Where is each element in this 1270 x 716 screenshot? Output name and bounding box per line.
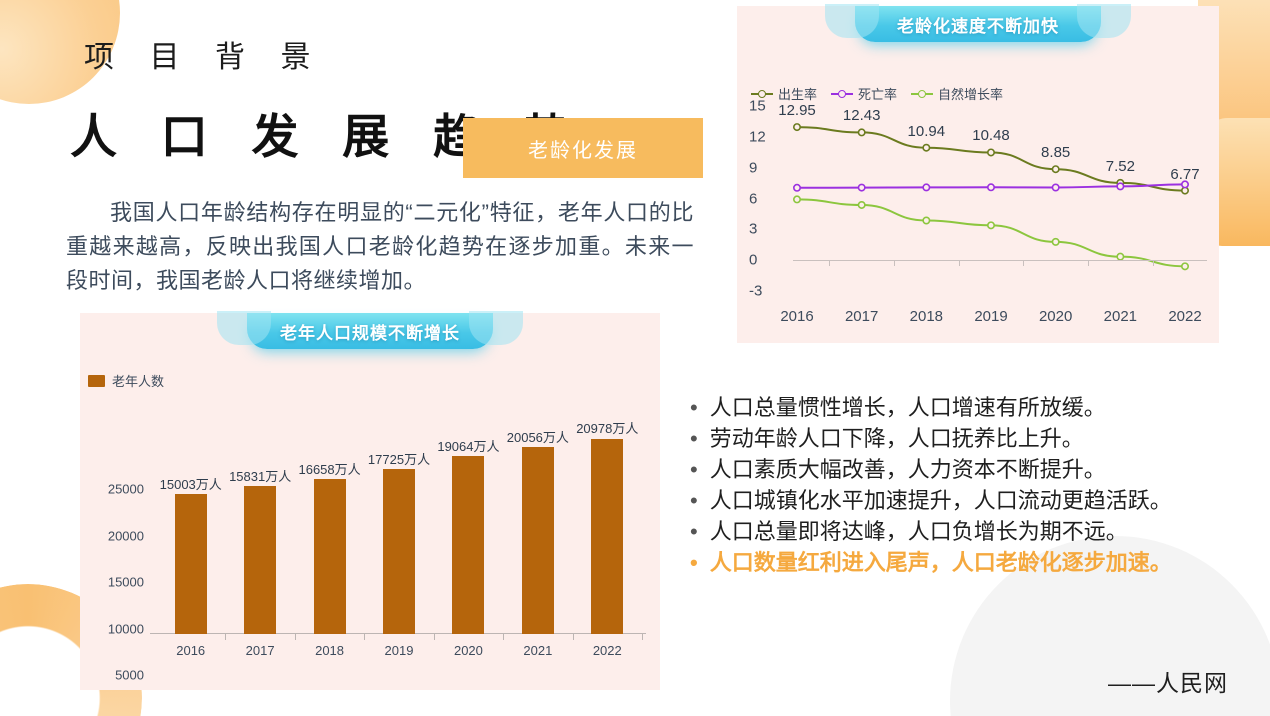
bar-x-tick-mark bbox=[573, 634, 574, 640]
line-chart-zero-axis bbox=[793, 260, 1207, 261]
line-data-point[interactable] bbox=[794, 124, 800, 130]
line-y-tick-label: 15 bbox=[749, 98, 766, 115]
bar-y-tick-label: 25000 bbox=[108, 482, 144, 497]
bullet-dot-icon: • bbox=[690, 392, 698, 423]
bar-x-tick-label: 2022 bbox=[593, 643, 622, 658]
bar-x-tick-label: 2017 bbox=[246, 643, 275, 658]
bar-x-tick-label: 2018 bbox=[315, 643, 344, 658]
bar-x-tick-mark bbox=[364, 634, 365, 640]
chart-panel-elderly-population: 老年人口规模不断增长 老年人数 050001000015000200002500… bbox=[80, 313, 660, 690]
line-data-point[interactable] bbox=[923, 145, 929, 151]
bar-rect bbox=[244, 486, 276, 634]
bar-chart-title: 老年人口规模不断增长 bbox=[280, 319, 460, 344]
line-chart-svg bbox=[789, 106, 1193, 291]
line-x-tick-mark bbox=[829, 260, 830, 266]
line-x-tick-mark bbox=[1023, 260, 1024, 266]
line-y-tick-label: 12 bbox=[749, 128, 766, 145]
bar-value-label: 20056万人 bbox=[507, 427, 569, 446]
line-y-tick-label: 3 bbox=[749, 221, 757, 238]
bullet-dot-icon: • bbox=[690, 516, 698, 547]
line-data-point[interactable] bbox=[988, 184, 994, 190]
line-data-point[interactable] bbox=[1117, 183, 1123, 189]
bar-x-tick-mark bbox=[225, 634, 226, 640]
legend-line-marker-icon bbox=[831, 89, 853, 99]
line-chart-banner: 老龄化速度不断加快 bbox=[855, 6, 1101, 42]
line-x-tick-label: 2016 bbox=[780, 308, 813, 325]
bar-y-tick-label: 5000 bbox=[115, 668, 144, 683]
legend-line-marker-icon bbox=[911, 89, 933, 99]
line-data-point[interactable] bbox=[794, 196, 800, 202]
line-data-point[interactable] bbox=[794, 185, 800, 191]
list-item: •人口总量惯性增长，人口增速有所放缓。 bbox=[690, 392, 1250, 423]
legend-swatch-icon bbox=[88, 375, 105, 387]
key-points-list: •人口总量惯性增长，人口增速有所放缓。•劳动年龄人口下降，人口抚养比上升。•人口… bbox=[690, 392, 1250, 578]
bar-column[interactable] bbox=[452, 456, 484, 634]
line-chart-title: 老龄化速度不断加快 bbox=[897, 12, 1059, 37]
legend-label: 自然增长率 bbox=[938, 84, 1003, 103]
line-y-tick-label: 9 bbox=[749, 159, 757, 176]
line-x-tick-label: 2017 bbox=[845, 308, 878, 325]
bar-rect bbox=[175, 494, 207, 634]
line-x-tick-label: 2022 bbox=[1168, 308, 1201, 325]
line-data-point[interactable] bbox=[858, 129, 864, 135]
line-x-tick-mark bbox=[959, 260, 960, 266]
line-data-point[interactable] bbox=[1052, 166, 1058, 172]
line-x-tick-label: 2018 bbox=[910, 308, 943, 325]
line-data-point[interactable] bbox=[1182, 181, 1188, 187]
line-data-point[interactable] bbox=[988, 222, 994, 228]
line-x-tick-label: 2021 bbox=[1104, 308, 1137, 325]
bar-rect bbox=[591, 439, 623, 635]
legend-label: 出生率 bbox=[778, 84, 817, 103]
chart-panel-birth-death-rate: 老龄化速度不断加快 出生率死亡率自然增长率 -303691215 12.9512… bbox=[737, 6, 1219, 343]
bar-x-tick-mark bbox=[434, 634, 435, 640]
line-chart-legend: 出生率死亡率自然增长率 bbox=[751, 84, 1003, 103]
bar-chart-banner: 老年人口规模不断增长 bbox=[247, 313, 493, 349]
bar-chart-legend: 老年人数 bbox=[88, 371, 164, 390]
line-x-tick-mark bbox=[1088, 260, 1089, 266]
bullet-dot-icon: • bbox=[690, 547, 698, 578]
line-y-tick-label: -3 bbox=[749, 283, 762, 300]
bar-value-label: 15003万人 bbox=[160, 474, 222, 493]
topic-tag: 老龄化发展 bbox=[463, 118, 703, 178]
bar-value-label: 16658万人 bbox=[298, 459, 360, 478]
bullet-dot-icon: • bbox=[690, 454, 698, 485]
line-data-point[interactable] bbox=[1052, 184, 1058, 190]
bar-column[interactable] bbox=[591, 439, 623, 635]
bar-x-tick-label: 2019 bbox=[385, 643, 414, 658]
list-item-text: 人口数量红利进入尾声，人口老龄化逐步加速。 bbox=[710, 547, 1172, 578]
bar-x-tick-mark bbox=[642, 634, 643, 640]
bar-rect bbox=[522, 447, 554, 634]
line-y-tick-label: 0 bbox=[749, 252, 757, 269]
bar-rect bbox=[452, 456, 484, 634]
line-data-point[interactable] bbox=[1117, 253, 1123, 259]
bar-column[interactable] bbox=[383, 469, 415, 634]
line-x-tick-mark bbox=[894, 260, 895, 266]
line-legend-item-2[interactable]: 自然增长率 bbox=[911, 84, 1003, 103]
list-item: •人口素质大幅改善，人力资本不断提升。 bbox=[690, 454, 1250, 485]
bar-value-label: 15831万人 bbox=[229, 466, 291, 485]
list-item: •人口总量即将达峰，人口负增长为期不远。 bbox=[690, 516, 1250, 547]
bar-x-tick-label: 2016 bbox=[176, 643, 205, 658]
bar-x-tick-label: 2021 bbox=[523, 643, 552, 658]
line-data-point[interactable] bbox=[923, 217, 929, 223]
line-data-point[interactable] bbox=[858, 202, 864, 208]
line-data-point[interactable] bbox=[988, 149, 994, 155]
bar-x-tick-label: 2020 bbox=[454, 643, 483, 658]
bar-column[interactable] bbox=[244, 486, 276, 634]
bar-x-tick-mark bbox=[503, 634, 504, 640]
line-legend-item-1[interactable]: 死亡率 bbox=[831, 84, 897, 103]
line-x-tick-label: 2020 bbox=[1039, 308, 1072, 325]
line-data-point[interactable] bbox=[1052, 239, 1058, 245]
line-y-tick-label: 6 bbox=[749, 190, 757, 207]
bar-rect bbox=[314, 479, 346, 634]
bar-chart-y-axis: 0500010000150002000025000 bbox=[80, 401, 150, 634]
list-item: •人口城镇化水平加速提升，人口流动更趋活跃。 bbox=[690, 485, 1250, 516]
bar-column[interactable] bbox=[175, 494, 207, 634]
line-x-tick-label: 2019 bbox=[974, 308, 1007, 325]
source-attribution: ——人民网 bbox=[1108, 664, 1228, 698]
bar-value-label: 17725万人 bbox=[368, 449, 430, 468]
bullet-dot-icon: • bbox=[690, 423, 698, 454]
bar-column[interactable] bbox=[522, 447, 554, 634]
bar-rect bbox=[383, 469, 415, 634]
legend-label: 死亡率 bbox=[858, 84, 897, 103]
bar-value-label: 20978万人 bbox=[576, 418, 638, 437]
bar-y-tick-label: 10000 bbox=[108, 621, 144, 636]
section-kicker: 项 目 背 景 bbox=[84, 32, 325, 76]
list-item-text: 人口城镇化水平加速提升，人口流动更趋活跃。 bbox=[710, 485, 1172, 516]
list-item: •劳动年龄人口下降，人口抚养比上升。 bbox=[690, 423, 1250, 454]
bar-x-tick-mark bbox=[295, 634, 296, 640]
bar-chart-plot-area: 15003万人15831万人16658万人17725万人19064万人20056… bbox=[156, 401, 642, 634]
list-item-text: 人口总量惯性增长，人口增速有所放缓。 bbox=[710, 392, 1106, 423]
legend-label-elderly: 老年人数 bbox=[112, 371, 164, 390]
bar-value-label: 19064万人 bbox=[437, 436, 499, 455]
line-x-tick-mark bbox=[1153, 260, 1154, 266]
bar-y-tick-label: 20000 bbox=[108, 528, 144, 543]
list-item-text: 劳动年龄人口下降，人口抚养比上升。 bbox=[710, 423, 1084, 454]
line-series-2[interactable] bbox=[797, 199, 1185, 266]
slide-root: 项 目 背 景 人 口 发 展 趋 势 老龄化发展 我国人口年龄结构存在明显的“… bbox=[0, 0, 1270, 716]
bar-y-tick-label: 15000 bbox=[108, 575, 144, 590]
list-item-text: 人口总量即将达峰，人口负增长为期不远。 bbox=[710, 516, 1128, 547]
bar-column[interactable] bbox=[314, 479, 346, 634]
line-data-point[interactable] bbox=[1182, 263, 1188, 269]
line-chart-plot-area: 12.9512.4310.9410.488.857.526.77 bbox=[789, 106, 1193, 291]
list-item-text: 人口素质大幅改善，人力资本不断提升。 bbox=[710, 454, 1106, 485]
line-data-point[interactable] bbox=[858, 184, 864, 190]
intro-paragraph: 我国人口年龄结构存在明显的“二元化”特征，老年人口的比重越来越高，反映出我国人口… bbox=[66, 196, 694, 298]
list-item: •人口数量红利进入尾声，人口老龄化逐步加速。 bbox=[690, 547, 1250, 578]
line-data-point[interactable] bbox=[923, 184, 929, 190]
line-series-0[interactable] bbox=[797, 127, 1185, 191]
bullet-dot-icon: • bbox=[690, 485, 698, 516]
